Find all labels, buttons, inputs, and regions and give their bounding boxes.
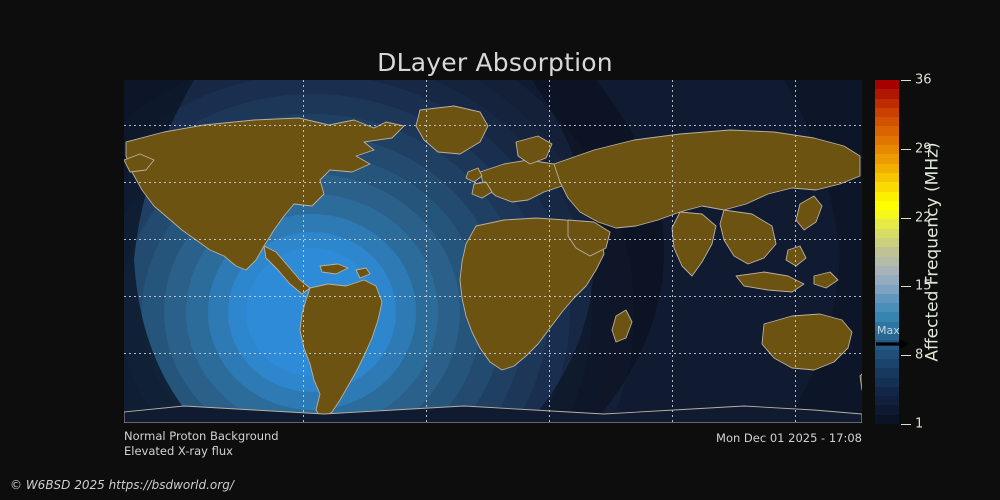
proton-background-note: Normal Proton Background [124,429,279,444]
colorbar-segment [875,415,899,424]
colorbar-tick [901,80,911,81]
xray-flux-note: Elevated X-ray flux [124,444,279,459]
colorbar-segment [875,108,899,117]
map-gridlines [124,80,862,423]
colorbar-segment [875,99,899,108]
colorbar-axis-label: Affected Frequency (MHz) [920,80,946,424]
map-plot-area[interactable] [124,80,862,423]
colorbar-segment [875,238,899,247]
colorbar-segment [875,340,899,349]
colorbar-segment [875,164,899,173]
timestamp: Mon Dec 01 2025 - 17:08 [560,431,862,445]
gridline-lat--30 [124,296,862,297]
gridline-lon-60 [672,80,673,423]
colorbar-segment [875,219,899,228]
colorbar-segment [875,229,899,238]
colorbar-segment [875,145,899,154]
colorbar-segment [875,154,899,163]
colorbar-segment [875,182,899,191]
footer-copyright: © W6BSD 2025 https://bsdworld.org/ [10,478,234,492]
gridline-lat--60 [124,353,862,354]
colorbar-segment [875,247,899,256]
colorbar-segment [875,173,899,182]
colorbar-segment [875,201,899,210]
gridline-lat-60 [124,125,862,126]
colorbar-segment [875,192,899,201]
colorbar-segment [875,387,899,396]
colorbar-segment [875,303,899,312]
colorbar-segment [875,89,899,98]
gridline-lon-120 [795,80,796,423]
gridline-lon--60 [426,80,427,423]
colorbar-tick [901,286,911,287]
colorbar-segment [875,257,899,266]
colorbar-tick [901,355,911,356]
colorbar-tick [901,218,911,219]
colorbar-segment [875,405,899,414]
colorbar-segment [875,378,899,387]
colorbar-segment [875,331,899,340]
colorbar-gradient [875,80,899,424]
colorbar-segment [875,285,899,294]
status-annotations: Normal Proton Background Elevated X-ray … [124,429,279,459]
colorbar-tick [901,149,911,150]
colorbar-tick [901,424,911,425]
colorbar-segment [875,275,899,284]
colorbar-axis-label-text: Affected Frequency (MHz) [923,142,943,361]
colorbar-segment [875,294,899,303]
gridline-lat-30 [124,182,862,183]
colorbar-segment [875,80,899,89]
colorbar-segment [875,312,899,321]
colorbar-segment [875,266,899,275]
colorbar-segment [875,210,899,219]
colorbar-segment [875,359,899,368]
gridline-lon-0 [549,80,550,423]
colorbar[interactable] [875,80,899,424]
colorbar-segment [875,126,899,135]
colorbar-segment [875,136,899,145]
colorbar-segment [875,350,899,359]
colorbar-segment [875,368,899,377]
gridline-lon--120 [303,80,304,423]
dlayer-absorption-map-page: DLayer Absorption [0,0,1000,500]
colorbar-segment [875,396,899,405]
page-title: DLayer Absorption [0,48,990,77]
gridline-lat-0 [124,239,862,240]
colorbar-segment [875,322,899,331]
colorbar-segment [875,117,899,126]
